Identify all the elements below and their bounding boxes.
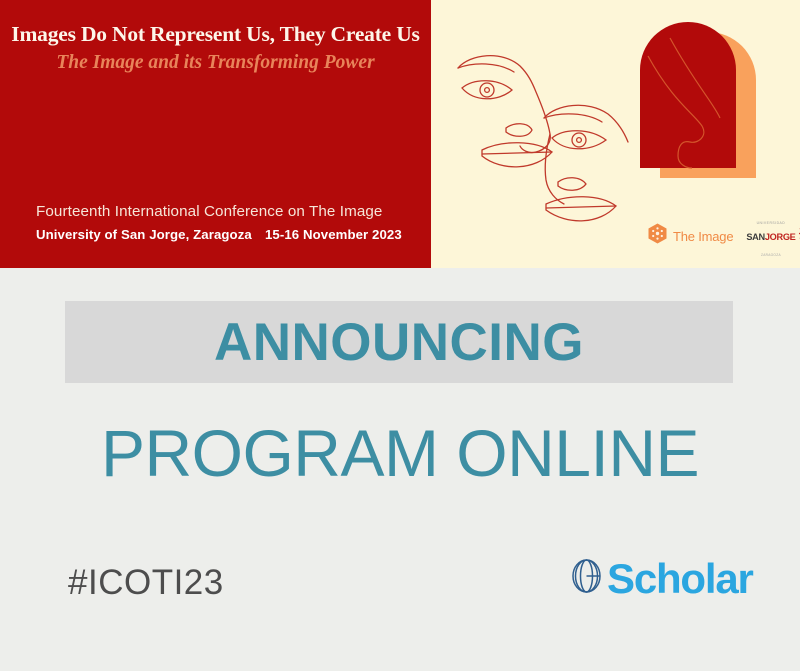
event-hashtag: #ICOTI23 — [68, 563, 224, 603]
conference-venue: University of San Jorge, Zaragoza — [36, 227, 252, 242]
hexagon-icon — [648, 223, 667, 249]
arch-illustration — [620, 8, 795, 208]
conference-name: Fourteenth International Conference on T… — [36, 203, 382, 220]
banner-logo-group: The Image UNIVERSIDAD SANJORGE ZARAGOZA — [648, 212, 800, 260]
san-jorge-top-line: UNIVERSIDAD — [757, 221, 786, 225]
san-jorge-text: UNIVERSIDAD SANJORGE ZARAGOZA — [746, 212, 795, 260]
conference-dates: 15-16 November 2023 — [265, 227, 402, 242]
conference-banner: Images Do Not Represent Us, They Create … — [0, 0, 800, 268]
san-jorge-logo[interactable]: UNIVERSIDAD SANJORGE ZARAGOZA — [746, 212, 800, 260]
san-jorge-bottom-line: ZARAGOZA — [761, 253, 781, 257]
san-jorge-main-line: SANJORGE — [746, 232, 795, 242]
announcing-label: ANNOUNCING — [65, 301, 733, 383]
globe-g-icon — [568, 556, 605, 601]
headline-program-online: PROGRAM ONLINE — [0, 415, 800, 491]
the-image-label: The Image — [673, 229, 733, 244]
banner-title: Images Do Not Represent Us, They Create … — [0, 22, 431, 47]
line-art-faces-illustration — [440, 10, 640, 260]
banner-subtitle: The Image and its Transforming Power — [0, 52, 431, 74]
poster-canvas: Images Do Not Represent Us, They Create … — [0, 0, 800, 671]
announcing-band: ANNOUNCING — [65, 301, 733, 383]
scholar-logo[interactable]: Scholar — [568, 556, 753, 601]
the-image-logo[interactable]: The Image — [648, 223, 733, 249]
scholar-wordmark: Scholar — [607, 558, 753, 600]
